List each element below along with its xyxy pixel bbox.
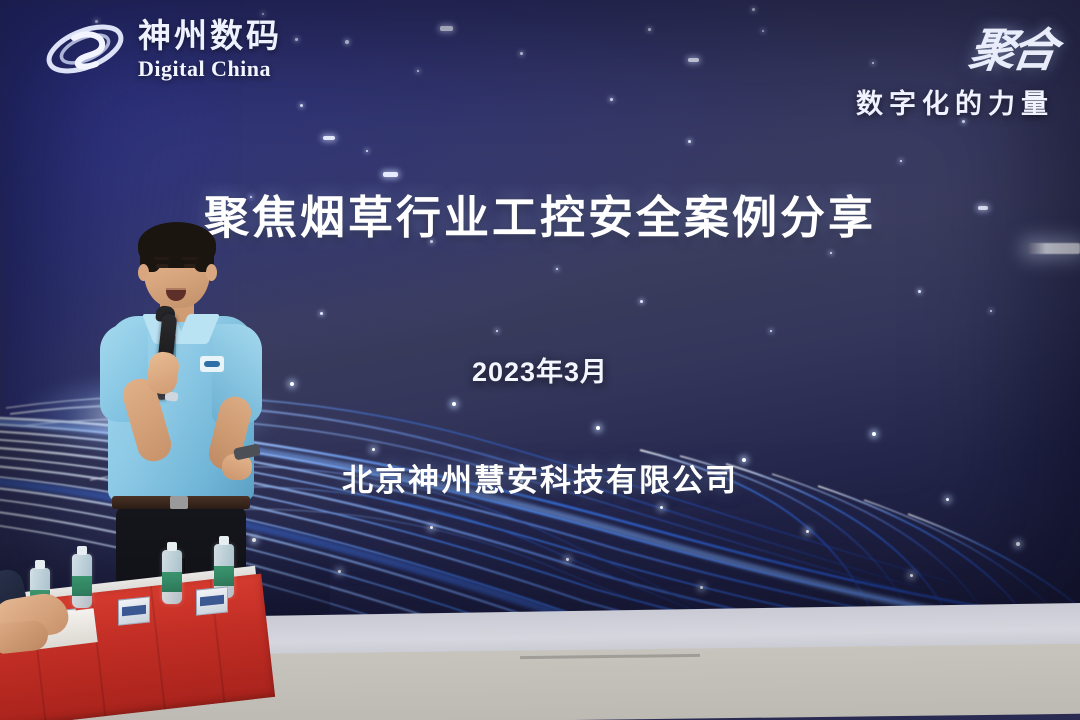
event-calligraphy-title: 聚合 xyxy=(965,14,1058,80)
bottle-label xyxy=(162,572,182,592)
light-dash-particle xyxy=(383,172,398,177)
name-card-text xyxy=(122,605,146,617)
digital-china-logo: 神州数码 Digital China xyxy=(44,18,282,80)
bottle-cap xyxy=(35,560,45,569)
water-bottle xyxy=(72,554,92,608)
bottle-label xyxy=(214,566,234,586)
bottle-label xyxy=(72,576,92,596)
light-dash-particle xyxy=(323,136,335,140)
name-card-text xyxy=(200,595,224,607)
name-card xyxy=(196,586,228,615)
star-particle xyxy=(990,310,992,312)
star-particle xyxy=(345,40,349,44)
digital-china-swirl-icon xyxy=(44,18,126,80)
light-dash-particle xyxy=(688,58,699,62)
star-particle xyxy=(320,312,323,315)
event-brand: 聚合 数字化的力量 xyxy=(856,14,1054,121)
speaker-eye-left xyxy=(156,264,168,268)
star-particle xyxy=(918,290,921,293)
star-particle xyxy=(417,70,419,72)
speaker-ear-left xyxy=(138,264,149,281)
shirt-chest-logo xyxy=(200,356,224,372)
star-particle xyxy=(648,28,651,31)
bottle-cap xyxy=(167,542,177,551)
bottle-cap xyxy=(219,536,229,545)
skirt-fold xyxy=(150,586,166,709)
speaker-ear-right xyxy=(206,264,217,281)
star-particle xyxy=(762,30,764,32)
speaker-eyebrow-left xyxy=(154,257,169,260)
light-dash-particle xyxy=(440,26,453,31)
logo-chinese-name: 神州数码 xyxy=(138,19,282,52)
water-bottle xyxy=(162,550,182,604)
star-particle xyxy=(520,52,523,55)
star-particle xyxy=(610,98,613,101)
conference-stage-photo: 神州数码 Digital China 聚合 数字化的力量 聚焦烟草行业工控安全案… xyxy=(0,0,1080,720)
speaker-belt-buckle xyxy=(170,496,188,509)
star-particle xyxy=(366,150,368,152)
logo-english-name: Digital China xyxy=(138,58,282,80)
star-particle xyxy=(295,38,298,41)
star-particle xyxy=(300,104,303,107)
star-particle xyxy=(688,140,691,143)
star-particle xyxy=(752,8,755,11)
star-particle xyxy=(900,160,902,162)
star-particle xyxy=(830,252,832,254)
star-particle xyxy=(640,300,643,303)
name-card xyxy=(118,596,150,625)
star-particle xyxy=(556,268,558,270)
star-particle xyxy=(262,13,264,15)
speaker-eye-right xyxy=(184,264,196,268)
event-tagline: 数字化的力量 xyxy=(856,82,1054,121)
speaker-eyebrow-right xyxy=(182,257,197,260)
bottle-cap xyxy=(77,546,87,555)
